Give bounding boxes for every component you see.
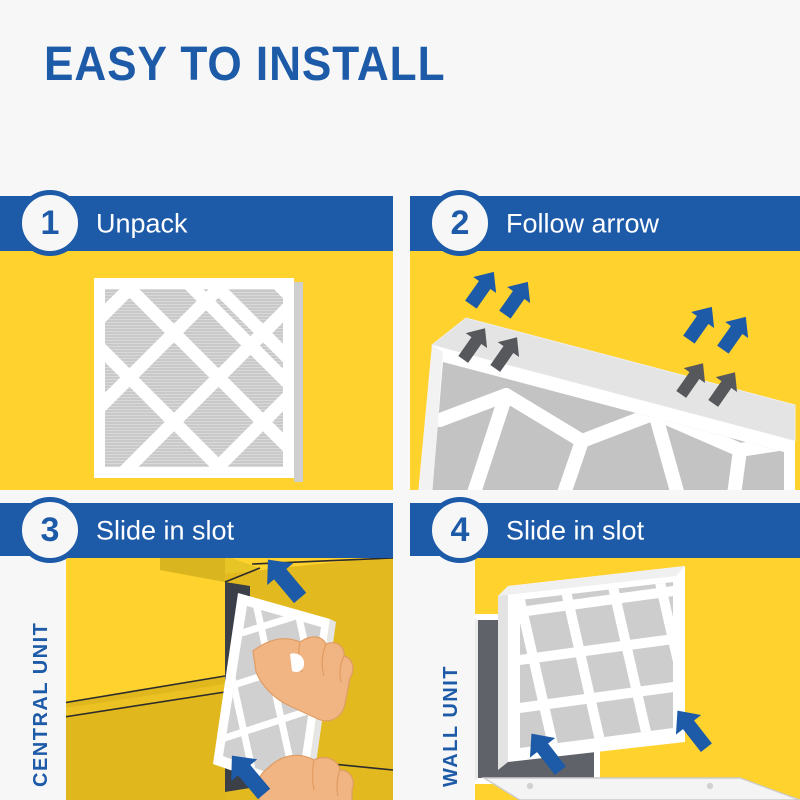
step-3-side-label: CENTRAL UNIT [30,572,53,787]
screw-right [707,783,713,789]
arrow-blue-pair-right [677,299,757,358]
step-2-illustration-area [410,245,800,490]
arrow-blue-pair-left [459,264,539,323]
infographic-root: EASY TO INSTALL [0,0,800,800]
filter-mesh [105,289,283,467]
step-2-number-badge: 2 [427,190,493,256]
step-4-side-label: WALL UNIT [440,572,463,787]
filter-flat-icon [94,278,294,478]
filter-lattice-icon [105,289,283,467]
step-4-label: Slide in slot [506,515,644,546]
filter-depth-left [498,586,508,770]
step-3-label: Slide in slot [96,515,234,546]
step-2-label: Follow arrow [506,208,659,239]
step-2-panel [410,245,800,490]
filter-angled-arrows-icon [410,245,800,490]
step-1-number-badge: 1 [17,190,83,256]
step-4-number-badge: 4 [427,497,493,563]
step-1-label: Unpack [96,208,188,239]
screw-left [527,783,533,789]
filter-side-edge [294,282,303,482]
step-3-number-badge: 3 [17,497,83,563]
page-title: EASY TO INSTALL [44,37,445,92]
